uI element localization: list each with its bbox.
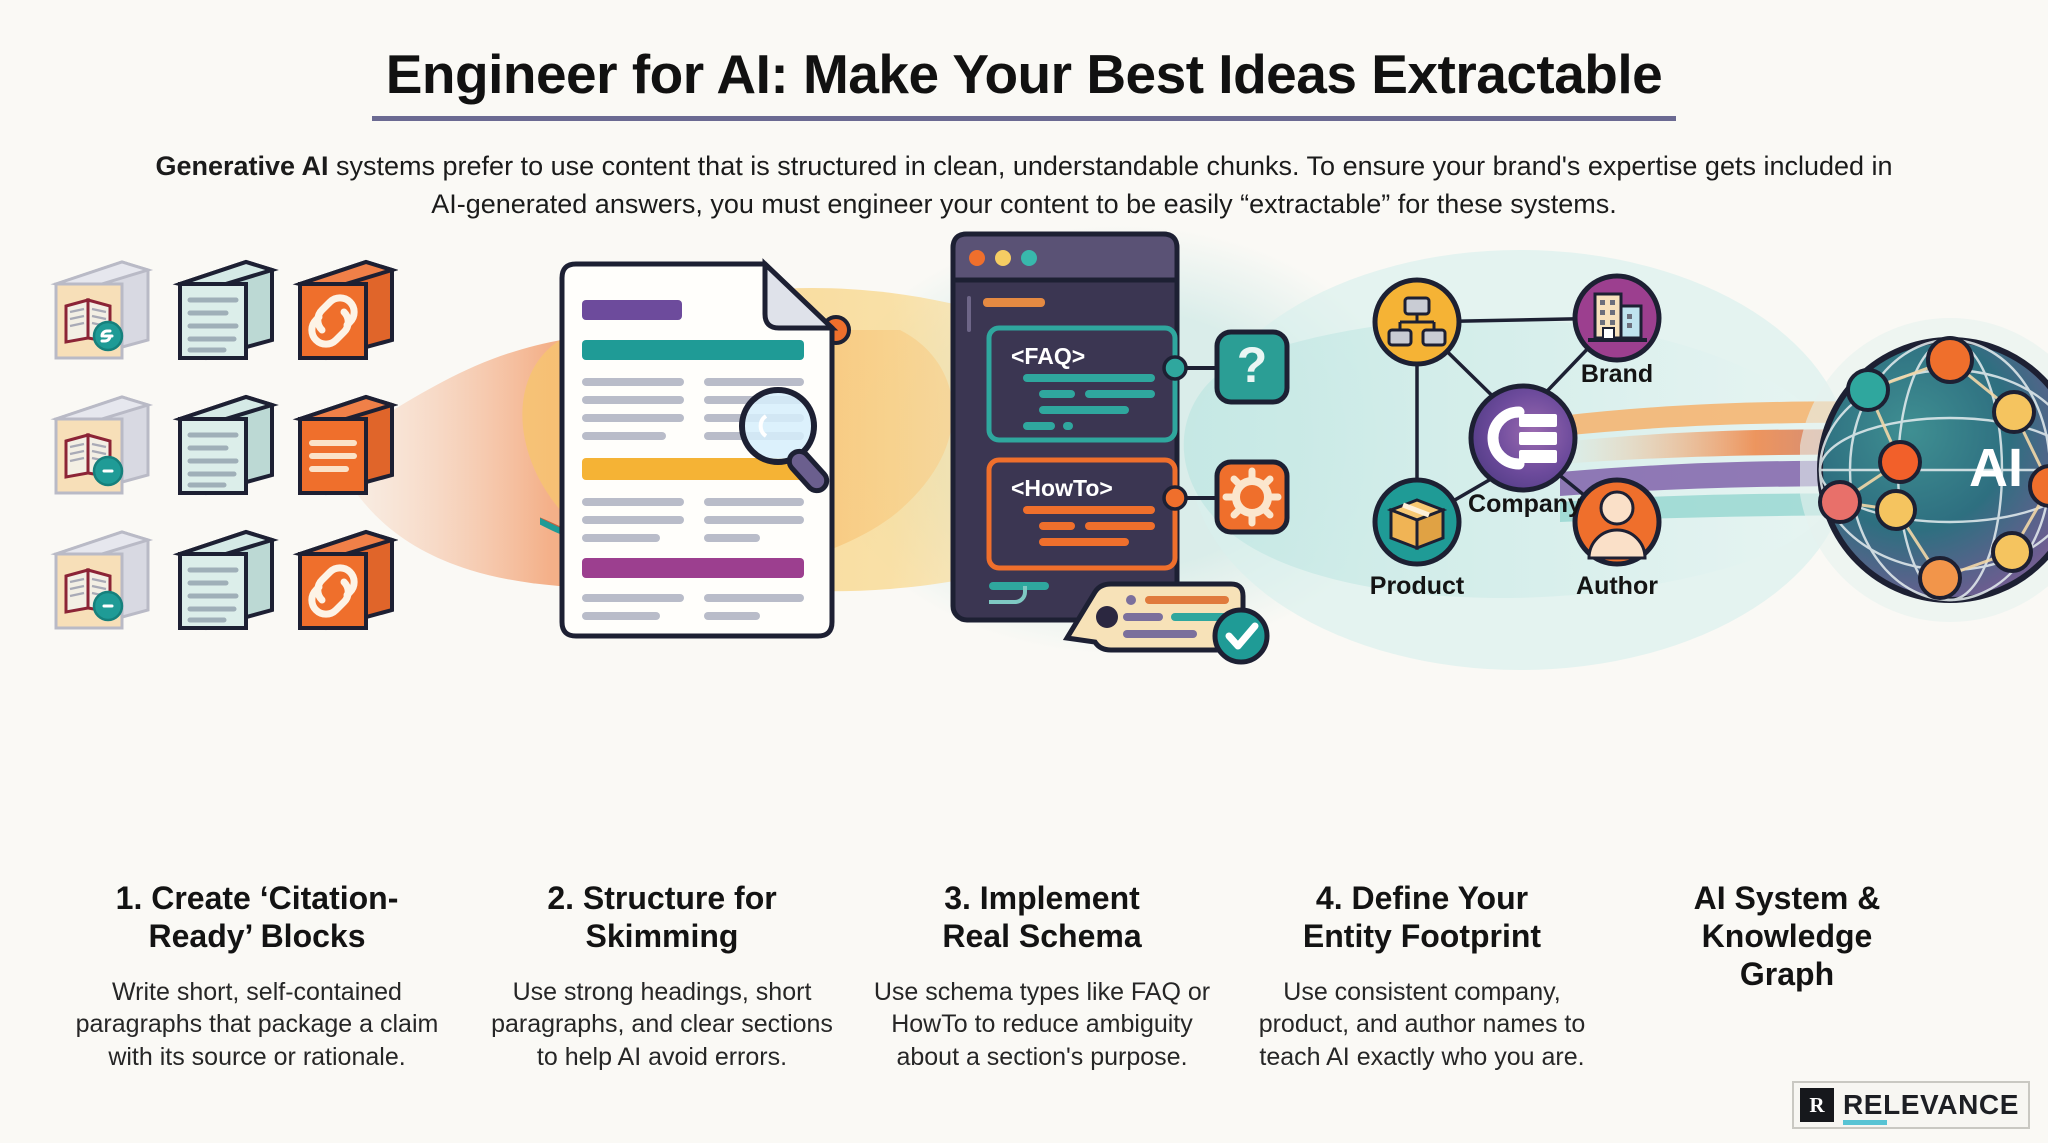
document-page-illustration: [540, 230, 870, 660]
caption-define-entity-footprint: 4. Define Your Entity Footprint Use cons…: [1232, 880, 1612, 1073]
caption-citation-ready-blocks: 1. Create ‘Citation- Ready’ Blocks Write…: [42, 880, 472, 1073]
brand-node: [1575, 276, 1659, 360]
relevance-logo-underline: [1843, 1120, 1887, 1125]
author-label: Author: [1576, 572, 1658, 600]
caption-title: 2. Structure for Skimming: [482, 880, 842, 956]
product-label: Product: [1370, 572, 1465, 600]
brand-label: Brand: [1581, 360, 1653, 388]
schema-code-illustration: <FAQ> <HowTo>: [945, 220, 1305, 670]
caption-title: 1. Create ‘Citation- Ready’ Blocks: [52, 880, 462, 956]
caption-body: Use strong headings, short paragraphs, a…: [482, 976, 842, 1074]
question-mark-badge: ?: [1217, 332, 1287, 402]
window-minimize-dot[interactable]: [995, 250, 1011, 266]
header: Engineer for AI: Make Your Best Ideas Ex…: [0, 0, 2048, 224]
faq-connector-dot: [1164, 357, 1186, 379]
relevance-logo[interactable]: R RELEVANCE: [1792, 1081, 2030, 1129]
infographic-canvas: Engineer for AI: Make Your Best Ideas Ex…: [0, 0, 2048, 1143]
knowledge-graph-sphere: AI: [1800, 290, 2048, 650]
check-badge: [1215, 610, 1267, 662]
heading-bar-magenta: [582, 558, 804, 578]
company-node: [1471, 386, 1575, 490]
caption-ai-system-knowledge-graph: AI System & Knowledge Graph: [1612, 880, 1962, 993]
window-maximize-dot[interactable]: [1021, 250, 1037, 266]
stage-illustrations: <FAQ> <HowTo>: [0, 230, 2048, 660]
relevance-logo-mark: R: [1800, 1088, 1834, 1122]
window-close-dot[interactable]: [969, 250, 985, 266]
sitemap-node: [1375, 280, 1459, 364]
caption-body: Use schema types like FAQ or HowTo to re…: [862, 976, 1222, 1074]
heading-bar-purple: [582, 300, 682, 320]
link-cube: [300, 262, 392, 628]
howto-tag-label: <HowTo>: [1011, 475, 1113, 501]
relevance-logo-text: RELEVANCE: [1843, 1089, 2019, 1121]
gear-badge: [1217, 462, 1287, 532]
text-lines-cube: [180, 262, 272, 628]
entity-footprint-graph: Brand Company Product Author: [1355, 260, 1715, 660]
howto-connector-dot: [1164, 487, 1186, 509]
faq-tag-label: <FAQ>: [1011, 343, 1085, 369]
caption-body: Write short, self-contained paragraphs t…: [52, 976, 462, 1074]
svg-text:?: ?: [1237, 337, 1268, 393]
caption-title: AI System & Knowledge Graph: [1622, 880, 1952, 993]
caption-structure-for-skimming: 2. Structure for Skimming Use strong hea…: [472, 880, 852, 1073]
stage-captions: 1. Create ‘Citation- Ready’ Blocks Write…: [0, 880, 2048, 1100]
book-link-cube: [56, 262, 148, 628]
company-label: Company: [1468, 490, 1582, 518]
heading-bar-teal: [582, 340, 804, 360]
author-node: [1575, 480, 1659, 564]
relevance-logo-wordmark: RELEVANCE: [1843, 1089, 2019, 1120]
subtitle-rest: systems prefer to use content that is st…: [329, 151, 1893, 219]
caption-title: 3. Implement Real Schema: [862, 880, 1222, 956]
caption-title: 4. Define Your Entity Footprint: [1242, 880, 1602, 956]
product-node: [1375, 480, 1459, 564]
subtitle-lead: Generative AI: [155, 151, 328, 181]
caption-body: Use consistent company, product, and aut…: [1242, 976, 1602, 1074]
caption-implement-real-schema: 3. Implement Real Schema Use schema type…: [852, 880, 1232, 1073]
code-window-titlebar: [953, 234, 1177, 280]
page-title: Engineer for AI: Make Your Best Ideas Ex…: [372, 42, 1677, 121]
page-subtitle: Generative AI systems prefer to use cont…: [154, 147, 1894, 224]
sphere-ai-label: AI: [1969, 438, 2023, 498]
citation-ready-cubes: [48, 240, 398, 660]
